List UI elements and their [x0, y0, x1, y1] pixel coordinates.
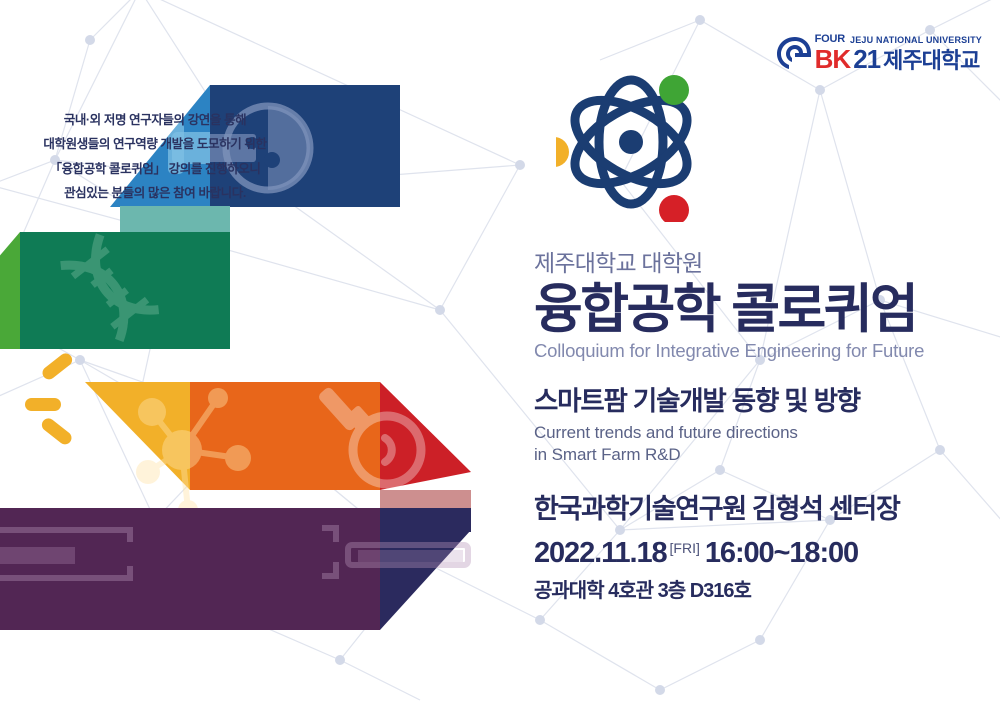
speaker-name: 한국과학기술연구원 김형석 센터장: [534, 493, 986, 525]
event-datetime: 2022.11.18 [FRI] 16:00~18:00: [534, 537, 986, 570]
bk21-logo: FOUR JEJU NATIONAL UNIVERSITY BK 21 제주대학…: [775, 34, 982, 72]
event-location: 공과대학 4호관 3층 D316호: [534, 579, 986, 603]
event-day: [FRI]: [670, 540, 700, 556]
starburst-icon: [25, 351, 75, 447]
description-line-4: 관심있는 분들의 많은 참여 바랍니다.: [20, 181, 290, 205]
poster-canvas: FOUR JEJU NATIONAL UNIVERSITY BK 21 제주대학…: [0, 0, 1000, 707]
page-title: 융합공학 콜로퀴엄: [534, 282, 986, 338]
block-green-side-face: [0, 232, 20, 349]
main-content: 제주대학교 대학원 융합공학 콜로퀴엄 Colloquium for Integ…: [534, 250, 986, 603]
description-line-3: 「융합공학 콜로퀴엄」 강의를 진행하오니: [20, 157, 290, 181]
lecture-subtitle-en: Current trends and future directions in …: [534, 422, 986, 466]
logo-university-kr: 제주대학교: [883, 50, 979, 72]
lecture-subtitle-en-line1: Current trends and future directions: [534, 422, 986, 444]
atom-electron-green: [659, 75, 689, 105]
description-line-2: 대학원생들의 연구역량 개발을 도모하기 위한: [20, 132, 290, 156]
bk21-emblem-icon: [775, 34, 811, 72]
atom-nucleus: [619, 130, 643, 154]
block-red-side-face: [380, 382, 471, 490]
event-time: 16:00~18:00: [705, 537, 858, 570]
block-teal-upper: [120, 206, 230, 232]
atom-electron-red: [659, 195, 689, 222]
lecture-subtitle-en-line2: in Smart Farm R&D: [534, 444, 986, 466]
event-date: 2022.11.18: [534, 537, 667, 570]
description-line-1: 국내·외 저명 연구자들의 강연을 통해: [20, 108, 290, 132]
block-darknavy-lower: [380, 508, 471, 532]
title-english: Colloquium for Integrative Engineering f…: [534, 340, 986, 362]
kicker-text: 제주대학교 대학원: [534, 250, 986, 278]
atom-electron-amber: [556, 137, 569, 167]
lecture-subtitle-kr: 스마트팜 기술개발 동향 및 방향: [534, 385, 986, 418]
atom-icon: [556, 62, 706, 222]
logo-21-text: 21: [853, 46, 880, 72]
logo-bk-text: BK: [815, 46, 851, 72]
description-text: 국내·외 저명 연구자들의 강연을 통해 대학원생들의 연구역량 개발을 도모하…: [20, 108, 290, 206]
